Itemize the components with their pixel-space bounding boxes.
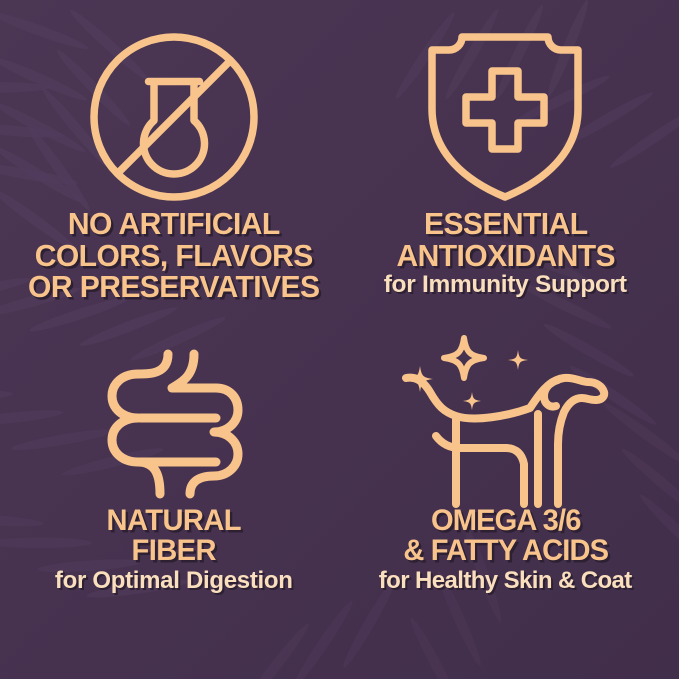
headline-line-1: NO ARTIFICIAL [17,208,331,240]
omega-text: OMEGA 3/6 & FATTY ACIDS for Healthy Skin… [344,506,668,594]
no-artificial-headline: NO ARTIFICIAL COLORS, FLAVORS OR PRESERV… [17,208,331,303]
benefit-card-no-artificial: NO ARTIFICIAL COLORS, FLAVORS OR PRESERV… [8,22,340,338]
dog-sparkles-icon [398,336,612,512]
omega-headline: OMEGA 3/6 & FATTY ACIDS [348,506,662,567]
no-artificial-flask-icon [86,29,262,205]
headline-line-2: COLORS, FLAVORS [17,240,331,272]
benefit-card-omega: OMEGA 3/6 & FATTY ACIDS for Healthy Skin… [340,338,672,654]
antioxidants-subline: for Immunity Support [344,272,668,298]
headline-line-1: OMEGA 3/6 [348,506,662,537]
headline-line-2: & FATTY ACIDS [348,536,662,567]
benefit-card-antioxidants: ESSENTIAL ANTIOXIDANTS for Immunity Supp… [340,22,672,338]
shield-cross-icon [422,31,588,203]
fiber-text: NATURAL FIBER for Optimal Digestion [12,506,336,594]
benefits-grid: NO ARTIFICIAL COLORS, FLAVORS OR PRESERV… [0,0,679,679]
fiber-subline: for Optimal Digestion [12,568,336,594]
fiber-headline: NATURAL FIBER [17,506,331,567]
shield-cross-icon-wrap [344,22,668,212]
no-artificial-text: NO ARTIFICIAL COLORS, FLAVORS OR PRESERV… [12,208,336,303]
headline-line-2: FIBER [17,536,331,567]
headline-line-2: ANTIOXIDANTS [348,240,662,272]
headline-line-1: ESSENTIAL [348,208,662,240]
intestine-icon-wrap [12,338,336,510]
no-artificial-flask-icon-wrap [12,22,336,212]
intestine-icon [98,348,250,500]
headline-line-3: OR PRESERVATIVES [17,271,331,303]
benefit-card-fiber: NATURAL FIBER for Optimal Digestion [8,338,340,654]
antioxidants-text: ESSENTIAL ANTIOXIDANTS for Immunity Supp… [344,208,668,299]
omega-subline: for Healthy Skin & Coat [344,568,668,594]
benefits-infographic: NO ARTIFICIAL COLORS, FLAVORS OR PRESERV… [0,0,679,679]
antioxidants-headline: ESSENTIAL ANTIOXIDANTS [348,208,662,271]
dog-sparkles-icon-wrap [344,338,668,510]
headline-line-1: NATURAL [17,506,331,537]
sparkles-group [407,338,528,410]
